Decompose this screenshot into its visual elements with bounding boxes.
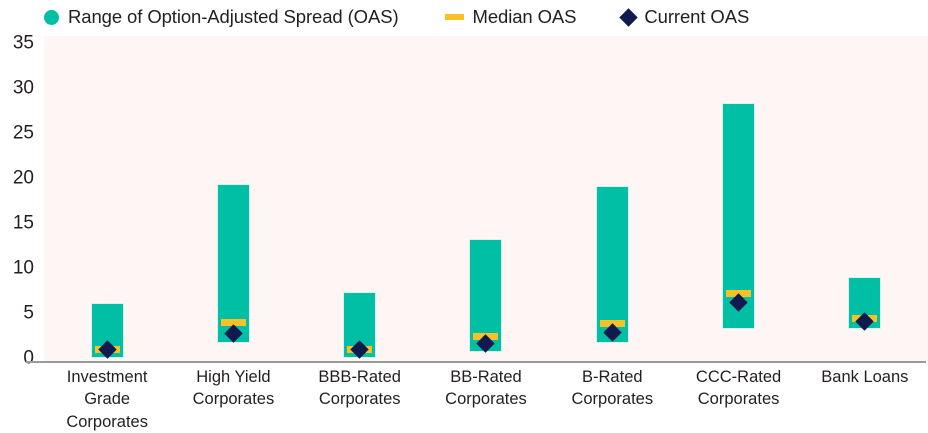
y-axis: 05101520253035 (0, 0, 44, 416)
x-tick-line-1: Bank Loans (821, 368, 908, 386)
x-tick-line-1: B-Rated (582, 368, 643, 386)
y-tick-label-20: 20 (13, 169, 34, 188)
x-tick-label: High YieldCorporates (170, 366, 296, 411)
x-tick-line-2: Corporates (44, 411, 170, 433)
x-tick-line-2: Corporates (423, 388, 549, 410)
bar-group[interactable] (675, 0, 801, 416)
bar-group[interactable] (297, 0, 423, 416)
bar-group[interactable] (170, 0, 296, 416)
y-tick-label-35: 35 (13, 34, 34, 53)
x-tick-line-1: BBB-Rated (318, 368, 401, 386)
bars-layer (44, 0, 928, 416)
oas-range-chart: Range of Option-Adjusted Spread (OAS) Me… (0, 0, 928, 416)
x-tick-line-1: CCC-Rated (696, 368, 781, 386)
y-tick-label-10: 10 (13, 259, 34, 278)
x-tick-line-2: Corporates (297, 388, 423, 410)
x-tick-line-2: Corporates (170, 388, 296, 410)
x-tick-label: Bank Loans (802, 366, 928, 388)
y-tick-label-30: 30 (13, 79, 34, 98)
x-tick-label: Investment GradeCorporates (44, 366, 170, 433)
y-tick-label-0: 0 (23, 349, 34, 368)
x-tick-line-1: Investment Grade (67, 368, 148, 408)
range-bar[interactable] (596, 186, 629, 343)
x-tick-label: BB-RatedCorporates (423, 366, 549, 411)
x-tick-label: BBB-RatedCorporates (297, 366, 423, 411)
y-tick-label-25: 25 (13, 124, 34, 143)
y-tick-label-5: 5 (23, 304, 34, 323)
x-axis: Investment GradeCorporatesHigh YieldCorp… (44, 366, 928, 416)
x-tick-label: B-RatedCorporates (549, 366, 675, 411)
x-tick-label: CCC-RatedCorporates (675, 366, 801, 411)
x-tick-line-2: Corporates (549, 388, 675, 410)
bar-group[interactable] (802, 0, 928, 416)
x-tick-line-1: BB-Rated (450, 368, 522, 386)
bar-group[interactable] (549, 0, 675, 416)
x-tick-line-2: Corporates (675, 388, 801, 410)
y-tick-label-15: 15 (13, 214, 34, 233)
bar-group[interactable] (44, 0, 170, 416)
bar-group[interactable] (423, 0, 549, 416)
x-tick-line-1: High Yield (196, 368, 270, 386)
